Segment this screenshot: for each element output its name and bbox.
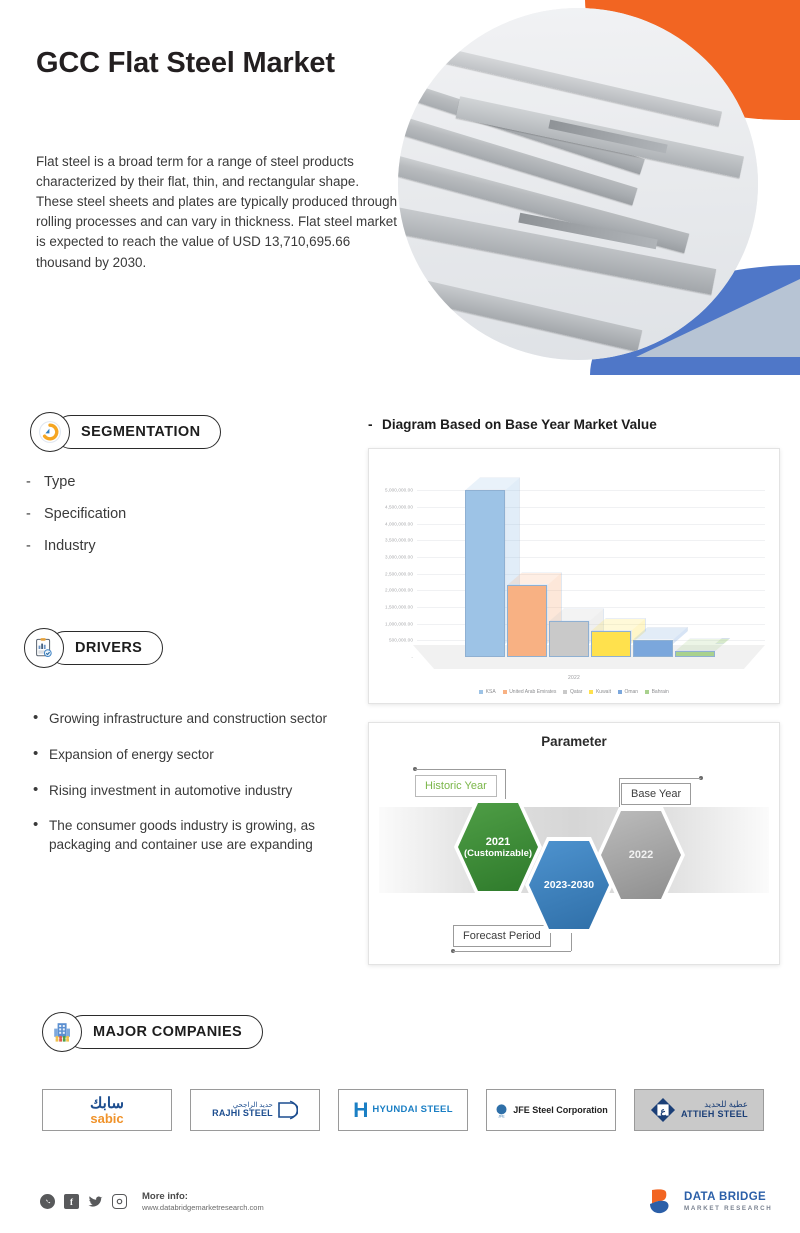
bar-front-face bbox=[465, 490, 505, 657]
list-marker: - bbox=[26, 538, 44, 554]
legend-label: Oman bbox=[624, 689, 638, 695]
drivers-list: • Growing infrastructure and constructio… bbox=[33, 710, 363, 872]
sabic-logo: سابك sabic bbox=[42, 1089, 172, 1131]
pie-chart-icon bbox=[30, 412, 70, 452]
steel-flat-bars-photo bbox=[398, 8, 758, 360]
chart-x-tick-label: 2022 bbox=[369, 675, 779, 681]
legend-swatch bbox=[503, 690, 507, 694]
list-item-label: The consumer goods industry is growing, … bbox=[49, 817, 363, 855]
historic-year-hex-line1: 2021 bbox=[486, 836, 510, 848]
base-year-leader-h bbox=[619, 778, 701, 779]
chart-heading-text: Diagram Based on Base Year Market Value bbox=[382, 417, 657, 432]
legend-item[interactable]: Qatar bbox=[563, 689, 582, 695]
historic-year-leader-h bbox=[415, 769, 505, 770]
legend-label: United Arab Emirates bbox=[509, 689, 556, 695]
list-item: - Industry bbox=[26, 538, 126, 554]
forecast-period-callout: Forecast Period bbox=[453, 925, 551, 947]
chart-y-tick-label: 4,000,000.00 bbox=[355, 521, 413, 526]
rajhi-steel-logo: حديد الراجحي RAJHI STEEL bbox=[190, 1089, 320, 1131]
legend-swatch bbox=[589, 690, 593, 694]
chart-bar-bahrain bbox=[675, 638, 730, 657]
brand-line-1: DATA BRIDGE bbox=[684, 1191, 772, 1205]
list-marker: - bbox=[26, 506, 44, 522]
legend-label: Bahrain bbox=[652, 689, 669, 695]
page-description: Flat steel is a broad term for a range o… bbox=[36, 152, 398, 273]
list-marker: • bbox=[33, 710, 49, 729]
jfe-steel-logo: JFE JFE Steel Corporation bbox=[486, 1089, 616, 1131]
forecast-leader-h bbox=[453, 951, 571, 952]
legend-item[interactable]: Oman bbox=[618, 689, 638, 695]
clipboard-chart-icon bbox=[24, 628, 64, 668]
drivers-label: DRIVERS bbox=[48, 631, 163, 665]
legend-item[interactable]: United Arab Emirates bbox=[503, 689, 557, 695]
chart-y-tick-label: 4,500,000.00 bbox=[355, 505, 413, 510]
rajhi-steel-logo-latin: RAJHI STEEL bbox=[212, 1109, 273, 1118]
legend-label: KSA bbox=[486, 689, 496, 695]
list-item: - Type bbox=[26, 474, 126, 490]
chart-y-tick-label: 1,500,000.00 bbox=[355, 605, 413, 610]
chart-y-tick-label: 3,000,000.00 bbox=[355, 555, 413, 560]
legend-swatch bbox=[618, 690, 622, 694]
base-year-label: Base Year bbox=[621, 783, 691, 805]
segmentation-pill: SEGMENTATION bbox=[30, 412, 221, 452]
legend-item[interactable]: KSA bbox=[479, 689, 496, 695]
legend-item[interactable]: Bahrain bbox=[645, 689, 669, 695]
building-people-icon bbox=[42, 1012, 82, 1052]
historic-year-label: Historic Year bbox=[415, 775, 497, 797]
list-marker: - bbox=[26, 474, 44, 490]
instagram-icon[interactable] bbox=[112, 1194, 127, 1209]
list-marker: • bbox=[33, 782, 49, 801]
companies-pill: MAJOR COMPANIES bbox=[42, 1012, 263, 1052]
segmentation-label: SEGMENTATION bbox=[54, 415, 221, 449]
chart-plot-area: 5,000,000.004,500,000.004,000,000.003,50… bbox=[369, 449, 779, 703]
chart-legend: KSAUnited Arab EmiratesQatarKuwaitOmanBa… bbox=[369, 689, 779, 695]
list-marker: • bbox=[33, 817, 49, 855]
page-title: GCC Flat Steel Market bbox=[36, 46, 366, 81]
bar-front-face bbox=[591, 631, 631, 657]
legend-swatch bbox=[645, 690, 649, 694]
whatsapp-icon[interactable] bbox=[40, 1194, 55, 1209]
list-item-label: Expansion of energy sector bbox=[49, 746, 214, 765]
historic-year-hex-line2: (Customizable) bbox=[464, 848, 532, 859]
list-item: - Specification bbox=[26, 506, 126, 522]
chart-y-tick-label: - bbox=[355, 655, 413, 660]
parameter-title: Parameter bbox=[369, 734, 779, 749]
footer-social-links: f More info: www.databridgemarketresearc… bbox=[40, 1191, 264, 1212]
historic-year-callout: Historic Year bbox=[415, 775, 497, 797]
bar-top-face bbox=[675, 638, 730, 651]
list-item-label: Industry bbox=[44, 538, 96, 554]
chart-y-tick-label: 1,000,000.00 bbox=[355, 621, 413, 626]
legend-swatch bbox=[563, 690, 567, 694]
databridge-brand-logo: DATA BRIDGE MARKET RESEARCH bbox=[648, 1188, 772, 1216]
attieh-steel-logo-latin: ATTIEH STEEL bbox=[681, 1110, 748, 1120]
chart-y-tick-label: 2,000,000.00 bbox=[355, 588, 413, 593]
list-item: • The consumer goods industry is growing… bbox=[33, 817, 363, 855]
svg-text:JFE: JFE bbox=[499, 1114, 506, 1117]
market-value-bar-chart: 5,000,000.004,500,000.004,000,000.003,50… bbox=[368, 448, 780, 704]
brand-line-2: MARKET RESEARCH bbox=[684, 1205, 772, 1212]
hyundai-steel-logo: H HYUNDAI STEEL bbox=[338, 1089, 468, 1131]
list-item: • Rising investment in automotive indust… bbox=[33, 782, 363, 801]
legend-swatch bbox=[479, 690, 483, 694]
svg-text:ع: ع bbox=[660, 1106, 666, 1117]
list-marker: • bbox=[33, 746, 49, 765]
legend-label: Qatar bbox=[570, 689, 583, 695]
segmentation-list: - Type - Specification - Industry bbox=[26, 474, 126, 570]
bar-front-face bbox=[675, 651, 715, 657]
companies-label: MAJOR COMPANIES bbox=[66, 1015, 263, 1049]
chart-heading: - Diagram Based on Base Year Market Valu… bbox=[368, 417, 657, 432]
rajhi-steel-mark bbox=[276, 1099, 298, 1121]
list-item: • Growing infrastructure and constructio… bbox=[33, 710, 363, 729]
parameter-diagram: Parameter Historic Year Base Year Foreca… bbox=[368, 722, 780, 965]
sabic-logo-arabic: سابك bbox=[90, 1096, 124, 1111]
twitter-icon[interactable] bbox=[88, 1194, 103, 1209]
attieh-mark: ع bbox=[650, 1097, 676, 1123]
sabic-logo-latin: sabic bbox=[90, 1112, 124, 1125]
historic-year-leader-v bbox=[505, 769, 506, 803]
list-item-label: Rising investment in automotive industry bbox=[49, 782, 292, 801]
forecast-period-hex-line1: 2023-2030 bbox=[544, 879, 594, 891]
bar-front-face bbox=[633, 640, 673, 657]
header: GCC Flat Steel Market Flat steel is a br… bbox=[0, 0, 800, 375]
chart-y-tick-label: 500,000.00 bbox=[355, 638, 413, 643]
list-item: • Expansion of energy sector bbox=[33, 746, 363, 765]
facebook-icon[interactable]: f bbox=[64, 1194, 79, 1209]
chart-y-tick-label: 2,500,000.00 bbox=[355, 571, 413, 576]
base-year-callout: Base Year bbox=[621, 783, 691, 805]
footer-url[interactable]: www.databridgemarketresearch.com bbox=[142, 1203, 264, 1212]
forecast-period-label: Forecast Period bbox=[453, 925, 551, 947]
more-info-label: More info: bbox=[142, 1191, 264, 1203]
chart-y-tick-label: 5,000,000.00 bbox=[355, 488, 413, 493]
jfe-steel-logo-latin: JFE Steel Corporation bbox=[513, 1105, 608, 1115]
attieh-steel-logo: ع عطية للحديد ATTIEH STEEL bbox=[634, 1089, 764, 1131]
drivers-pill: DRIVERS bbox=[24, 628, 163, 668]
databridge-mark bbox=[648, 1188, 678, 1216]
list-item-label: Growing infrastructure and construction … bbox=[49, 710, 327, 729]
list-item-label: Specification bbox=[44, 506, 126, 522]
legend-item[interactable]: Kuwait bbox=[589, 689, 611, 695]
list-item-label: Type bbox=[44, 474, 75, 490]
hyundai-h-mark: H bbox=[353, 1100, 368, 1121]
base-year-hex-line1: 2022 bbox=[629, 849, 653, 861]
hyundai-steel-logo-latin: HYUNDAI STEEL bbox=[372, 1105, 452, 1116]
chart-y-tick-label: 3,500,000.00 bbox=[355, 538, 413, 543]
chart-heading-marker: - bbox=[368, 417, 382, 432]
bar-front-face bbox=[549, 621, 589, 657]
legend-label: Kuwait bbox=[596, 689, 611, 695]
bar-front-face bbox=[507, 585, 547, 657]
jfe-mark: JFE bbox=[494, 1103, 509, 1118]
